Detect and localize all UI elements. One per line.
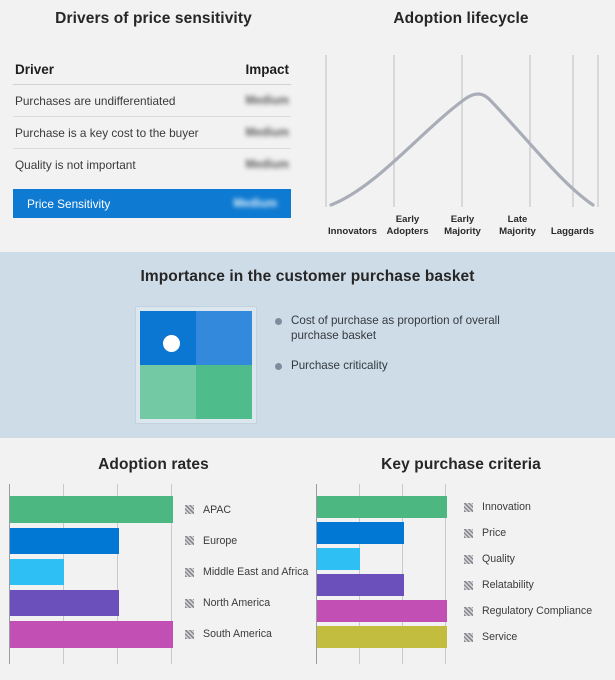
quadrant-top-right[interactable] xyxy=(196,311,252,365)
column-header-driver: Driver xyxy=(15,62,54,77)
bar-row xyxy=(10,556,173,587)
bullet-icon xyxy=(275,318,282,325)
bar-row xyxy=(317,520,447,546)
legend-label: North America xyxy=(203,597,270,609)
lifecycle-label-laggards: Laggards xyxy=(545,205,600,239)
list-item[interactable]: Relatability xyxy=(464,572,610,598)
legend-label: South America xyxy=(203,628,272,640)
impact-value: Medium xyxy=(246,159,289,171)
legend-label: Middle East and Africa xyxy=(203,566,308,578)
bar-row xyxy=(10,525,173,556)
table-row[interactable]: Purchases are undifferentiated Medium xyxy=(13,85,291,117)
bar-row xyxy=(317,546,447,572)
legend-swatch-icon xyxy=(464,555,473,564)
legend-swatch-icon xyxy=(185,630,194,639)
bar-row xyxy=(317,598,447,624)
bar-row xyxy=(10,619,173,650)
legend-swatch-icon xyxy=(464,607,473,616)
drivers-table: Driver Impact Purchases are undifferenti… xyxy=(13,62,291,218)
legend-label: Regulatory Compliance xyxy=(482,605,592,617)
list-item[interactable]: Quality xyxy=(464,546,610,572)
impact-value: Medium xyxy=(234,198,277,210)
bar-europe[interactable] xyxy=(10,528,119,555)
legend-label: Europe xyxy=(203,535,237,547)
criteria-plot-area xyxy=(316,484,447,664)
quadrant-bottom-right[interactable] xyxy=(196,365,252,419)
criteria-bars xyxy=(317,494,447,650)
bar-row xyxy=(317,624,447,650)
bar-innovation[interactable] xyxy=(317,496,447,518)
bar-row xyxy=(10,588,173,619)
list-item: Purchase criticality xyxy=(275,359,595,374)
drivers-of-price-sensitivity-panel: Drivers of price sensitivity Driver Impa… xyxy=(0,0,307,252)
list-item: Cost of purchase as proportion of overal… xyxy=(275,314,595,343)
list-item[interactable]: APAC xyxy=(185,494,299,525)
drivers-table-header: Driver Impact xyxy=(13,62,291,85)
bar-middle-east-and-africa[interactable] xyxy=(10,559,64,586)
list-item[interactable]: Europe xyxy=(185,525,299,556)
bar-north-america[interactable] xyxy=(10,590,119,617)
bar-apac[interactable] xyxy=(10,496,173,523)
lifecycle-label-early-majority: Early Majority xyxy=(435,205,490,239)
bar-price[interactable] xyxy=(317,522,404,544)
legend-label: Service xyxy=(482,631,517,643)
legend-label: APAC xyxy=(203,504,231,516)
lifecycle-label-late-majority: Late Majority xyxy=(490,205,545,239)
driver-label: Purchases are undifferentiated xyxy=(15,94,175,108)
legend-label: Cost of purchase as proportion of overal… xyxy=(291,314,541,343)
bar-quality[interactable] xyxy=(317,548,360,570)
matrix-quadrants xyxy=(140,311,252,419)
page-title-key-purchase-criteria: Key purchase criteria xyxy=(307,456,615,474)
purchase-basket-matrix[interactable] xyxy=(135,306,257,424)
legend-label: Innovation xyxy=(482,501,531,513)
adoption-rates-panel: Adoption rates APAC Europe xyxy=(0,438,307,680)
legend-swatch-icon xyxy=(185,505,194,514)
legend-swatch-icon xyxy=(185,568,194,577)
driver-label: Price Sensitivity xyxy=(27,197,110,211)
table-row-selected-price-sensitivity[interactable]: Price Sensitivity Medium xyxy=(13,189,291,218)
list-item[interactable]: Regulatory Compliance xyxy=(464,598,610,624)
list-item[interactable]: Middle East and Africa xyxy=(185,556,299,587)
page-title-lifecycle: Adoption lifecycle xyxy=(307,10,615,28)
adoption-plot-area xyxy=(9,484,173,664)
legend-swatch-icon xyxy=(185,599,194,608)
bar-row xyxy=(317,572,447,598)
bar-regulatory-compliance[interactable] xyxy=(317,600,447,622)
legend-swatch-icon xyxy=(464,503,473,512)
impact-value: Medium xyxy=(246,127,289,139)
key-purchase-criteria-panel: Key purchase criteria Innovation xyxy=(307,438,615,680)
list-item[interactable]: South America xyxy=(185,619,299,650)
lifecycle-label-early-adopters: Early Adopters xyxy=(380,205,435,239)
lifecycle-label-innovators: Innovators xyxy=(325,205,380,239)
adoption-lifecycle-panel: Adoption lifecycle Innovators Early Adop… xyxy=(307,0,615,252)
table-row[interactable]: Quality is not important Medium xyxy=(13,149,291,180)
quadrant-bottom-left[interactable] xyxy=(140,365,196,419)
bar-service[interactable] xyxy=(317,626,447,648)
legend-swatch-icon xyxy=(185,536,194,545)
table-row[interactable]: Purchase is a key cost to the buyer Medi… xyxy=(13,117,291,149)
list-item[interactable]: North America xyxy=(185,588,299,619)
page-title-basket: Importance in the customer purchase bask… xyxy=(0,268,615,286)
data-point-marker-dot xyxy=(163,335,180,352)
list-item[interactable]: Service xyxy=(464,624,610,650)
legend-swatch-icon xyxy=(464,633,473,642)
bar-relatability[interactable] xyxy=(317,574,404,596)
page-title-adoption-rates: Adoption rates xyxy=(0,456,307,474)
criteria-legend: Innovation Price Quality Relatability Re… xyxy=(464,494,610,650)
adoption-lifecycle-curve-chart xyxy=(325,55,600,207)
bar-south-america[interactable] xyxy=(10,621,173,648)
importance-in-customer-purchase-basket-panel: Importance in the customer purchase bask… xyxy=(0,252,615,438)
driver-label: Quality is not important xyxy=(15,158,136,172)
list-item[interactable]: Price xyxy=(464,520,610,546)
adoption-rates-bar-chart: APAC Europe Middle East and Africa North… xyxy=(9,484,299,664)
column-header-impact: Impact xyxy=(245,62,289,77)
list-item[interactable]: Innovation xyxy=(464,494,610,520)
key-purchase-criteria-bar-chart: Innovation Price Quality Relatability Re… xyxy=(316,484,610,664)
legend-label: Purchase criticality xyxy=(291,359,388,374)
bullet-icon xyxy=(275,363,282,370)
lifecycle-stage-labels: Innovators Early Adopters Early Majority… xyxy=(325,205,600,239)
legend-swatch-icon xyxy=(464,529,473,538)
legend-label: Relatability xyxy=(482,579,534,591)
impact-value: Medium xyxy=(246,95,289,107)
driver-label: Purchase is a key cost to the buyer xyxy=(15,126,199,140)
bar-row xyxy=(10,494,173,525)
adoption-bars xyxy=(10,494,173,650)
basket-legend: Cost of purchase as proportion of overal… xyxy=(275,314,595,390)
legend-swatch-icon xyxy=(464,581,473,590)
page-title-drivers: Drivers of price sensitivity xyxy=(0,10,307,28)
legend-label: Price xyxy=(482,527,506,539)
legend-label: Quality xyxy=(482,553,515,565)
adoption-legend: APAC Europe Middle East and Africa North… xyxy=(185,494,299,650)
bar-row xyxy=(317,494,447,520)
